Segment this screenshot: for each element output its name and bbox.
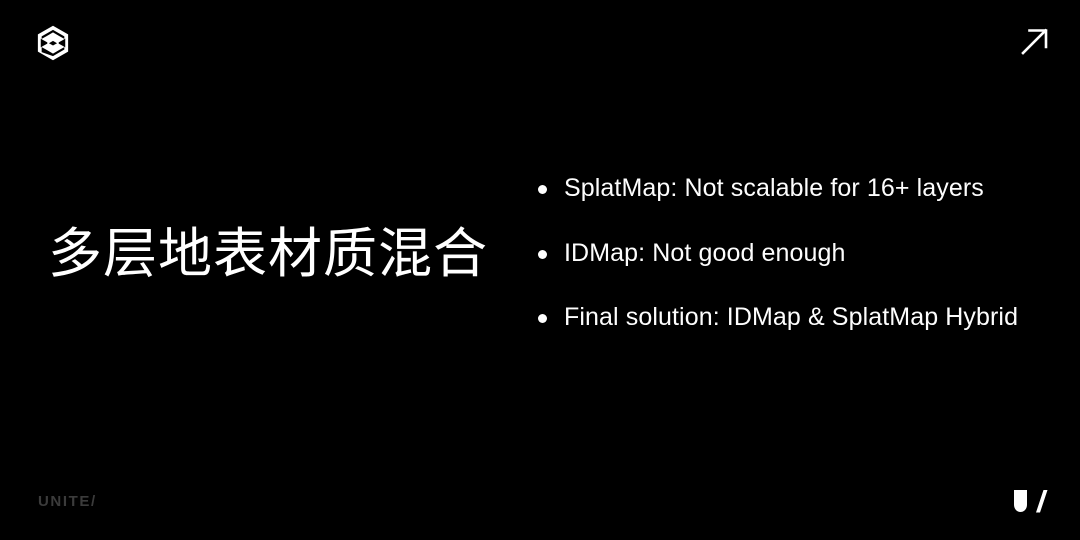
- bullet-text: IDMap: Not good enough: [564, 237, 846, 271]
- slide-footer: UNITE/: [0, 460, 1080, 540]
- list-item: SplatMap: Not scalable for 16+ layers: [538, 172, 1058, 206]
- bullet-dot-icon: [538, 250, 547, 259]
- bullet-dot-icon: [538, 314, 547, 323]
- page-title: 多层地表材质混合: [48, 222, 508, 286]
- bullet-text: Final solution: IDMap & SplatMap Hybrid: [564, 301, 1018, 335]
- unity-cube-icon: [35, 25, 71, 61]
- title-block: 多层地表材质混合: [48, 222, 508, 286]
- list-item: Final solution: IDMap & SplatMap Hybrid: [538, 301, 1058, 335]
- slide-canvas: 多层地表材质混合 SplatMap: Not scalable for 16+ …: [0, 0, 1080, 540]
- footer-brand-label: UNITE/: [38, 493, 97, 510]
- slide-topbar: [0, 0, 1080, 84]
- unity-u-slash-icon: [1008, 486, 1052, 518]
- arrow-up-right-icon[interactable]: [1018, 24, 1052, 58]
- list-item: IDMap: Not good enough: [538, 237, 1058, 271]
- bullet-dot-icon: [538, 185, 547, 194]
- bullet-list: SplatMap: Not scalable for 16+ layers ID…: [538, 172, 1058, 335]
- bullet-text: SplatMap: Not scalable for 16+ layers: [564, 172, 984, 206]
